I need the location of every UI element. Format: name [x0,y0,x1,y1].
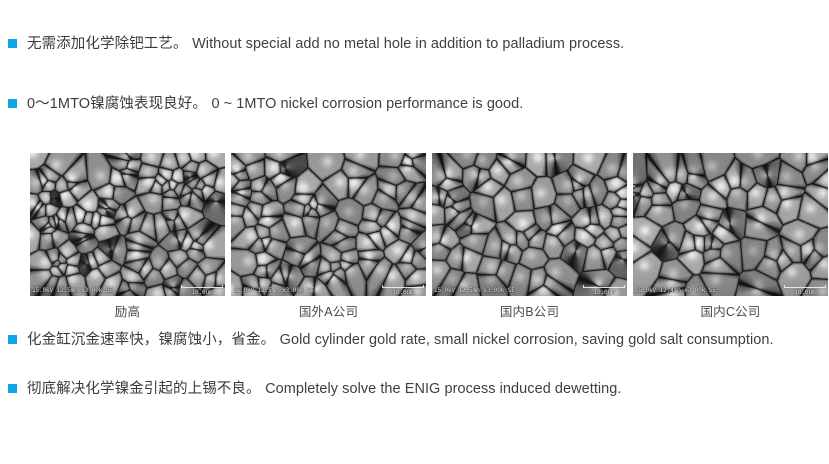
sem-micrograph-image [30,153,225,296]
bullet-line-english: Gold cylinder gold rate, small nickel co… [280,332,774,348]
sem-micrograph-image [432,153,627,296]
sem-figure: 15.0kV 12.5mm x3.00k SE 10.0um [30,153,225,296]
sem-figure: 15.0kV 12.5mm x3.00k SE 10.0um [231,153,426,296]
sem-caption: 励高 [30,303,225,321]
sem-caption: 国内C公司 [633,303,828,321]
bullet-line-chinese: 0～1MTO镍腐蚀表现良好。 [27,96,207,112]
bullet-item-dewetting: 彻底解决化学镍金引起的上锡不良。 Completely solve the EN… [8,379,621,400]
bullet-line-english: 0 ~ 1MTO nickel corrosion performance is… [211,96,523,112]
bullet-item-nickel-corrosion: 0～1MTO镍腐蚀表现良好。 0 ~ 1MTO nickel corrosion… [8,94,523,115]
sem-micrograph-image [633,153,828,296]
bullet-item-gold-rate: 化金缸沉金速率快，镍腐蚀小，省金。 Gold cylinder gold rat… [8,330,774,351]
bullet-text-group: 彻底解决化学镍金引起的上锡不良。 Completely solve the EN… [27,379,621,400]
bullet-line-chinese: 化金缸沉金速率快，镍腐蚀小，省金。 [27,332,275,348]
sem-caption-row: 励高 国外A公司 国内B公司 国内C公司 [30,303,828,321]
bullet-text-group: 无需添加化学除钯工艺。 Without special add no metal… [27,34,624,55]
bullet-line-chinese: 无需添加化学除钯工艺。 [27,36,188,52]
sem-image-gallery: 15.0kV 12.5mm x3.00k SE 10.0um 15.0kV 12… [30,153,828,296]
sem-caption: 国外A公司 [231,303,426,321]
square-bullet-icon [8,335,17,344]
sem-figure: 15.0kV 12.5mm x3.00k SE 10.0um [432,153,627,296]
bullet-line-english: Completely solve the ENIG process induce… [265,381,621,397]
sem-caption: 国内B公司 [432,303,627,321]
sem-micrograph-image [231,153,426,296]
bullet-item-no-palladium: 无需添加化学除钯工艺。 Without special add no metal… [8,34,624,55]
square-bullet-icon [8,384,17,393]
bullet-line-chinese: 彻底解决化学镍金引起的上锡不良。 [27,381,261,397]
bullet-text-group: 化金缸沉金速率快，镍腐蚀小，省金。 Gold cylinder gold rat… [27,330,774,351]
bullet-line-english: Without special add no metal hole in add… [192,36,624,52]
square-bullet-icon [8,39,17,48]
bullet-text-group: 0～1MTO镍腐蚀表现良好。 0 ~ 1MTO nickel corrosion… [27,94,523,115]
square-bullet-icon [8,99,17,108]
sem-figure: 15.0kV 12.4mm x3.00k SE 10.0um [633,153,828,296]
